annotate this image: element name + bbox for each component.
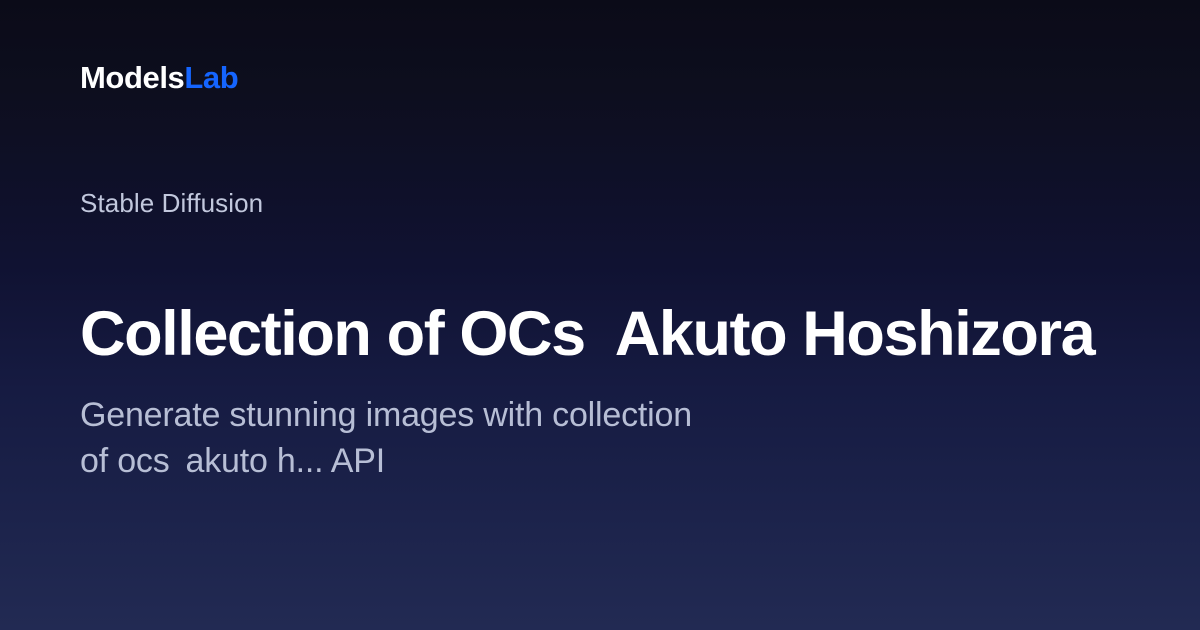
card-content: ModelsLab Stable Diffusion Collection of…	[80, 0, 1140, 630]
open-graph-card: ModelsLab Stable Diffusion Collection of…	[0, 0, 1200, 630]
description-line-2-after: akuto h... API	[186, 442, 385, 480]
category-eyebrow: Stable Diffusion	[80, 188, 263, 219]
page-title-part-2: Akuto Hoshizora	[615, 299, 1095, 369]
logo-text-lab: Lab	[184, 60, 238, 95]
modelslab-logo[interactable]: ModelsLab	[80, 62, 238, 93]
page-description: Generate stunning images with collection…	[80, 392, 720, 484]
page-title-part-1: Collection of OCs	[80, 299, 585, 369]
page-title: Collection of OCsAkuto Hoshizora	[80, 300, 1150, 369]
logo-text-models: Models	[80, 60, 184, 95]
description-line-1: Generate stunning images with	[80, 396, 543, 434]
